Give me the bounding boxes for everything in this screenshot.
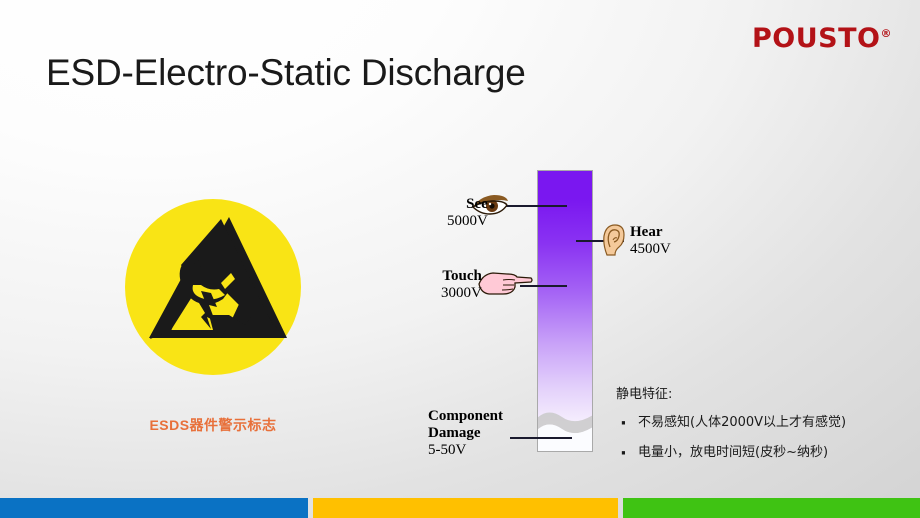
- callout-hear-value: 4500V: [630, 241, 671, 258]
- ear-icon: [601, 223, 627, 257]
- footer-color-bars: [0, 498, 920, 518]
- pousto-logo: POUSTO®: [752, 25, 892, 52]
- callout-see-label: See: [447, 196, 488, 213]
- callout-see: See 5000V: [447, 196, 488, 230]
- voltage-gradient-bar: [537, 170, 593, 452]
- callout-see-value: 5000V: [447, 213, 488, 230]
- slide-canvas: POUSTO® ESD-Electro-Static Discharge ESD…: [0, 0, 920, 518]
- callout-component-damage: Component Damage 5-50V: [428, 408, 503, 458]
- notes-item: 不易感知(人体2000V以上才有感觉): [616, 416, 846, 430]
- notes-item: 电量小，放电时间短(皮秒~纳秒): [616, 446, 846, 460]
- notes-block: 静电特征: 不易感知(人体2000V以上才有感觉) 电量小，放电时间短(皮秒~纳…: [616, 388, 846, 475]
- registered-trademark-icon: ®: [881, 27, 893, 40]
- callout-touch-value: 3000V: [441, 285, 482, 302]
- footer-bar-yellow: [313, 498, 618, 518]
- esd-symbol-block: ESDS器件警示标志: [123, 199, 303, 435]
- pointing-hand-icon: [477, 268, 533, 298]
- footer-bar-green: [623, 498, 920, 518]
- wave-separator-icon: [537, 405, 593, 451]
- notes-title: 静电特征:: [616, 388, 846, 402]
- callout-touch: Touch 3000V: [441, 268, 482, 302]
- callout-damage-value: 5-50V: [428, 442, 503, 459]
- callout-damage-label-line1: Component: [428, 408, 503, 425]
- callout-damage-label-line2: Damage: [428, 425, 503, 442]
- page-title: ESD-Electro-Static Discharge: [46, 52, 526, 94]
- callout-hear-label: Hear: [630, 224, 671, 241]
- esd-symbol-caption: ESDS器件警示标志: [123, 415, 303, 435]
- leader-line-damage: [510, 437, 572, 439]
- esd-warning-triangle-icon: [125, 199, 301, 375]
- logo-text: POUSTO: [752, 23, 880, 54]
- footer-bar-blue: [0, 498, 308, 518]
- callout-hear: Hear 4500V: [630, 224, 671, 258]
- esd-warning-circle: [125, 199, 301, 375]
- callout-touch-label: Touch: [441, 268, 482, 285]
- leader-line-see: [505, 205, 567, 207]
